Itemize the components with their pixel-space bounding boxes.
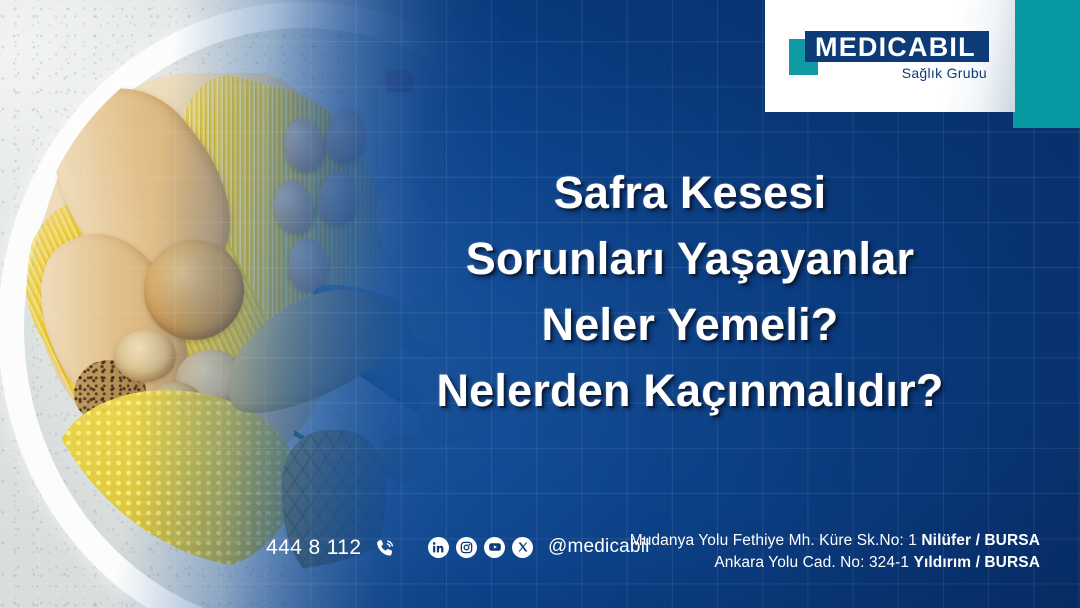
phone-number: 444 8 112 [266,536,361,560]
headline-line-3: Neler Yemeli? [340,292,1040,358]
address-line-2-plain: Ankara Yolu Cad. No: 324-1 [714,554,913,571]
youtube-icon[interactable] [484,537,505,558]
logo-panel: MEDICABIL Sağlık Grubu [765,0,1015,112]
x-icon[interactable] [512,537,533,558]
poster-canvas: MEDICABIL Sağlık Grubu Safra Kesesi Soru… [0,0,1080,608]
headline-line-1: Safra Kesesi [340,160,1040,226]
address-line-2-district: Yıldırım / BURSA [914,554,1040,571]
phone-icon [374,537,396,559]
medicabil-logo[interactable]: MEDICABIL Sağlık Grubu [789,26,989,88]
linkedin-icon[interactable] [428,537,449,558]
address-block: Mudanya Yolu Fethiye Mh. Küre Sk.No: 1 N… [630,530,1040,574]
footer-bar: 444 8 112 [0,530,1080,576]
logo-wordmark: MEDICABIL [815,32,976,62]
headline-line-4: Nelerden Kaçınmalıdır? [340,358,1040,424]
headline: Safra Kesesi Sorunları Yaşayanlar Neler … [340,160,1040,424]
address-line-1: Mudanya Yolu Fethiye Mh. Küre Sk.No: 1 N… [630,530,1040,552]
address-line-1-plain: Mudanya Yolu Fethiye Mh. Küre Sk.No: 1 [630,532,922,549]
address-line-2: Ankara Yolu Cad. No: 324-1 Yıldırım / BU… [630,552,1040,574]
social-links[interactable]: @medicabil [428,536,650,558]
headline-line-2: Sorunları Yaşayanlar [340,226,1040,292]
address-line-1-district: Nilüfer / BURSA [921,532,1040,549]
phone-contact[interactable]: 444 8 112 [266,536,396,560]
teal-accent-block [1013,0,1080,128]
instagram-icon[interactable] [456,537,477,558]
logo-subtitle: Sağlık Grubu [902,65,987,81]
